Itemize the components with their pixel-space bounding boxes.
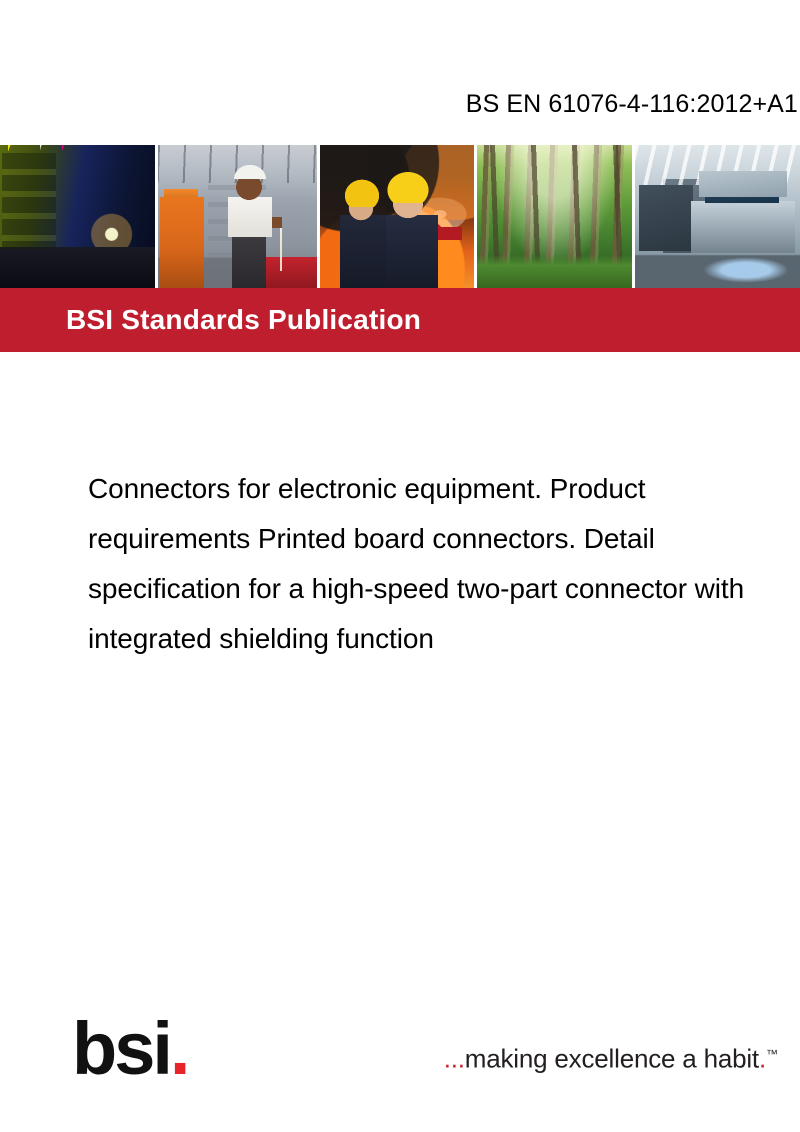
cover-footer: bsi. ...making excellence a habit.™: [0, 1008, 800, 1086]
tagline-leading-dots: ...: [444, 1044, 465, 1074]
page-title: Connectors for electronic equipment. Pro…: [88, 464, 794, 664]
document-reference: BS EN 61076-4-116:2012+A1:201: [0, 88, 800, 120]
bsi-logo: bsi.: [72, 1012, 190, 1086]
tagline-end-dot: .: [759, 1044, 766, 1074]
photo-forest: [477, 145, 635, 289]
document-cover-page: BS EN 61076-4-116:2012+A1:201 BSI Standa…: [0, 0, 800, 1132]
document-reference-text: BS EN 61076-4-116:2012+A1:201: [466, 88, 800, 120]
bsi-logo-wordmark: bsi: [72, 1007, 170, 1090]
photo-warehouse-worker: [158, 145, 320, 289]
banner-label: BSI Standards Publication: [66, 304, 421, 336]
standards-publication-banner: BSI Standards Publication: [0, 288, 800, 352]
cover-photo-strip: [0, 145, 800, 289]
trademark-icon: ™: [766, 1047, 778, 1061]
bsi-logo-dot: .: [170, 1007, 191, 1090]
bsi-tagline: ...making excellence a habit.™: [444, 1039, 778, 1074]
photo-traffic-light-trails: [0, 145, 158, 289]
photo-firefighters: [320, 145, 477, 289]
tagline-text: making excellence a habit: [465, 1044, 759, 1074]
photo-car-assembly-line: [635, 145, 800, 289]
